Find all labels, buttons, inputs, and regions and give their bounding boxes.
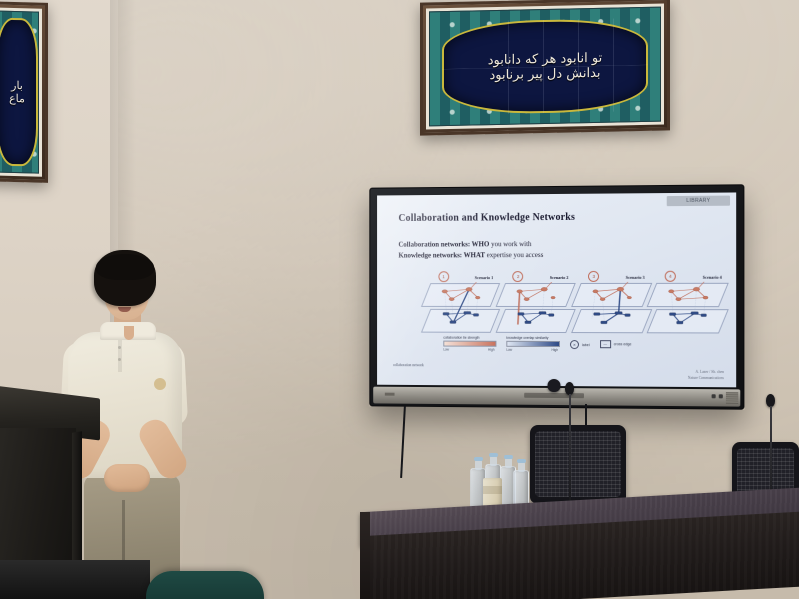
calligraphy-left-line-1: بار bbox=[11, 80, 23, 91]
slide-bullet-1-rest: you work with bbox=[489, 240, 531, 248]
cup-band bbox=[483, 486, 502, 494]
speaker-shirt-logo bbox=[154, 378, 166, 390]
legend-cross-edge-entry: — cross edge bbox=[600, 340, 632, 348]
legend-cool-ticks: Low High bbox=[506, 348, 558, 352]
panel-network-graph bbox=[426, 282, 495, 334]
display-speaker-grille bbox=[726, 392, 738, 403]
calligraphy-left-line-2: ماع bbox=[9, 93, 25, 104]
display-screen[interactable]: LIBRARY Collaboration and Knowledge Netw… bbox=[377, 192, 736, 387]
cross-edge-icon: — bbox=[600, 340, 611, 348]
slide-bullet-1-bold: Collaboration networks: WHO bbox=[398, 240, 489, 248]
calligraphy-line-2: بدانش دل پیر برنابود bbox=[489, 66, 600, 81]
slide-credit-line-2: Nature Communications bbox=[688, 375, 724, 381]
slide-bullet-1: Collaboration networks: WHO you work wit… bbox=[398, 240, 531, 249]
foreground-dark-chair[interactable] bbox=[0, 560, 150, 599]
slide-content: LIBRARY Collaboration and Knowledge Netw… bbox=[377, 192, 736, 387]
legend-warm-caption: collaboration tie strength bbox=[443, 336, 496, 340]
persian-tile-panel-cropped: بار ماع bbox=[0, 1, 48, 183]
legend-cool-caption: knowledge overlap similarity bbox=[506, 336, 560, 340]
legend-node-entry: ✕ label bbox=[570, 340, 590, 349]
display-camera bbox=[548, 379, 561, 392]
calligraphy-line-1: تو انابود هر که دانابود bbox=[488, 51, 602, 66]
legend-cool-low: Low bbox=[506, 348, 512, 352]
legend-cool-high: High bbox=[551, 348, 558, 352]
legend-knowledge-scale: knowledge overlap similarity Low High bbox=[506, 336, 560, 352]
figure-legend: collaboration tie strength Low High know… bbox=[443, 336, 724, 359]
conference-room-photo: تو انابود هر که دانابود بدانش دل پیر برن… bbox=[0, 0, 799, 599]
legend-warm-ticks: Low High bbox=[443, 348, 494, 352]
figure-panels: 1 Scenario 1 bbox=[426, 282, 724, 335]
display-power-led bbox=[385, 393, 395, 396]
table-left-edge bbox=[360, 512, 370, 599]
panel-number: 2 bbox=[513, 271, 524, 282]
speaker-shirt-collar bbox=[100, 322, 156, 340]
display-brand-strip bbox=[524, 393, 584, 398]
panel-network-graph bbox=[575, 282, 646, 334]
panel-title: Scenario 3 bbox=[626, 275, 645, 280]
legend-warm-high: High bbox=[488, 348, 494, 352]
figure-panel: 3 Scenario 3 bbox=[575, 282, 646, 334]
slide-badge: LIBRARY bbox=[667, 196, 730, 207]
persian-calligraphy-tile-panel: تو انابود هر که دانابود بدانش دل پیر برن… bbox=[420, 0, 670, 136]
microphone-gooseneck bbox=[569, 394, 571, 510]
panel-title: Scenario 1 bbox=[475, 275, 493, 280]
panel-number: 4 bbox=[665, 271, 676, 282]
slide-bullet-2-bold: Knowledge networks: WHAT bbox=[398, 251, 485, 259]
panel-number: 1 bbox=[438, 271, 449, 282]
legend-node-label: label bbox=[582, 343, 590, 347]
figure-panel: 1 Scenario 1 bbox=[426, 282, 495, 334]
chair-mesh bbox=[535, 431, 621, 497]
presentation-display[interactable]: LIBRARY Collaboration and Knowledge Netw… bbox=[369, 184, 744, 409]
artwork-calligraphy-text-left: بار ماع bbox=[0, 20, 36, 165]
legend-cool-colorbar bbox=[506, 341, 560, 347]
mesh-office-chair[interactable] bbox=[530, 425, 626, 503]
slide-bullet-2: Knowledge networks: WHAT expertise you a… bbox=[398, 251, 543, 259]
panel-network-graph bbox=[652, 282, 724, 335]
speaker-shirt-button bbox=[118, 346, 121, 349]
artwork-calligraphy-field-left: بار ماع bbox=[0, 17, 38, 166]
panel-title: Scenario 2 bbox=[550, 275, 569, 280]
legend-collaboration-scale: collaboration tie strength Low High bbox=[443, 336, 496, 352]
panel-title: Scenario 4 bbox=[703, 275, 722, 280]
speaker-hair-fringe bbox=[96, 254, 154, 280]
figure-panel: 4 Scenario 4 bbox=[652, 282, 724, 335]
legend-warm-colorbar bbox=[443, 341, 496, 347]
speaker-clasped-hands bbox=[104, 464, 150, 492]
artwork-calligraphy-text: تو انابود هر که دانابود بدانش دل پیر برن… bbox=[444, 20, 646, 113]
panel-number: 3 bbox=[588, 271, 599, 282]
artwork-calligraphy-field: تو انابود هر که دانابود بدانش دل پیر برن… bbox=[442, 18, 648, 115]
node-icon: ✕ bbox=[570, 340, 579, 349]
slide-bullet-2-rest: expertise you access bbox=[485, 251, 543, 259]
figure-panel: 2 Scenario 2 bbox=[500, 282, 570, 334]
green-chair[interactable] bbox=[146, 571, 264, 599]
slide-figure: collaboration network knowledge network … bbox=[393, 272, 724, 361]
panel-network-graph bbox=[500, 282, 570, 334]
speaker-shirt-placket bbox=[118, 338, 122, 372]
slide-title: Collaboration and Knowledge Networks bbox=[398, 212, 575, 224]
slide-credit: A. Lazer / Sh. chen Nature Communication… bbox=[688, 370, 724, 381]
legend-cross-label: cross edge bbox=[614, 342, 632, 346]
conference-table bbox=[360, 500, 799, 599]
speaker-shirt-button bbox=[118, 358, 121, 361]
legend-warm-low: Low bbox=[443, 348, 449, 352]
figure-row-label-collaboration: collaboration network bbox=[393, 363, 424, 368]
